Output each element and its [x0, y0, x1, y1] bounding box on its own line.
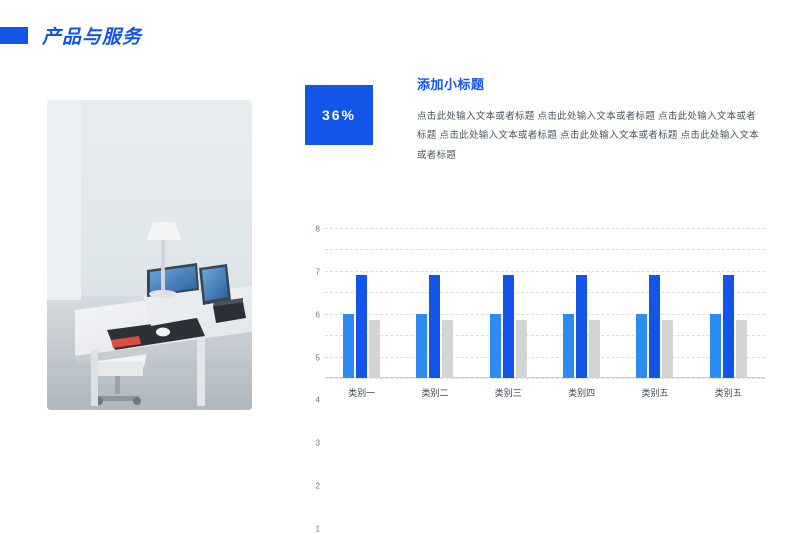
chart-bar — [723, 275, 734, 378]
chart-bar — [490, 314, 501, 378]
chart-bar — [563, 314, 574, 378]
chart-bar — [576, 275, 587, 378]
chart-x-label: 类别一 — [332, 386, 392, 399]
office-photo — [47, 100, 252, 410]
chart-x-label: 类别二 — [405, 386, 465, 399]
bar-chart: 12345678 类别一类别二类别三类别四类别五类别五 — [305, 228, 765, 418]
chart-x-label: 类别四 — [552, 386, 612, 399]
percentage-badge-value: 36% — [322, 107, 356, 123]
chart-bar — [736, 320, 747, 378]
chart-bar — [649, 275, 660, 378]
sub-title: 添加小标题 — [417, 74, 762, 93]
chart-bar — [636, 314, 647, 378]
chart-bar — [343, 314, 354, 378]
chart-bar — [356, 275, 367, 378]
chart-bar-group — [710, 228, 747, 378]
page-title: 产品与服务 — [42, 22, 142, 49]
percentage-badge: 36% — [305, 85, 373, 145]
header-accent-bar — [0, 27, 28, 44]
chart-bar — [662, 320, 673, 378]
chart-bar — [516, 320, 527, 378]
chart-y-axis-label: 5 — [316, 353, 320, 362]
chart-x-label: 类别三 — [478, 386, 538, 399]
chart-y-axis-label: 2 — [316, 482, 320, 491]
text-block: 添加小标题 点击此处输入文本或者标题 点击此处输入文本或者标题 点击此处输入文本… — [417, 74, 762, 165]
chart-bar-group — [563, 228, 600, 378]
chart-bar — [369, 320, 380, 378]
chart-bar — [416, 314, 427, 378]
chart-bar — [503, 275, 514, 378]
chart-y-axis-label: 1 — [316, 525, 320, 534]
chart-plot-area: 12345678 — [325, 228, 765, 378]
office-photo-illustration — [47, 100, 252, 410]
chart-y-axis-label: 6 — [316, 310, 320, 319]
chart-y-axis-label: 7 — [316, 267, 320, 276]
chart-y-axis-label: 4 — [316, 396, 320, 405]
chart-bar-group — [490, 228, 527, 378]
chart-x-label: 类别五 — [625, 386, 685, 399]
chart-x-label: 类别五 — [698, 386, 758, 399]
slide-header: 产品与服务 — [0, 22, 142, 49]
chart-bar — [589, 320, 600, 378]
chart-y-axis-label: 3 — [316, 439, 320, 448]
chart-bar — [710, 314, 721, 378]
chart-x-axis-labels: 类别一类别二类别三类别四类别五类别五 — [325, 386, 765, 399]
chart-gridline: 1 — [325, 378, 765, 379]
chart-bar — [429, 275, 440, 378]
body-paragraph: 点击此处输入文本或者标题 点击此处输入文本或者标题 点击此处输入文本或者标题 点… — [417, 107, 762, 165]
chart-bar-group — [343, 228, 380, 378]
chart-bar-group — [416, 228, 453, 378]
chart-y-axis-label: 8 — [316, 225, 320, 234]
chart-bars — [325, 228, 765, 378]
chart-bar-group — [636, 228, 673, 378]
slide: 产品与服务 — [0, 0, 799, 450]
chart-bar — [442, 320, 453, 378]
